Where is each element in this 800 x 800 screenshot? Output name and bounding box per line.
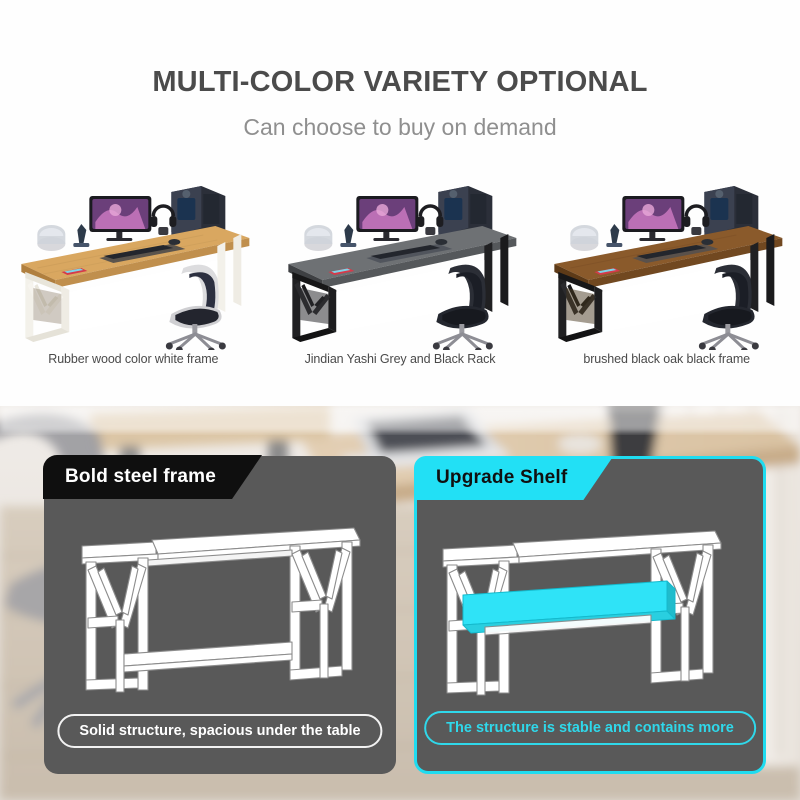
variety-section: MULTI-COLOR VARIETY OPTIONAL Can choose …: [0, 0, 800, 406]
feature-badge-upgrade-shelf: Upgrade Shelf: [414, 456, 613, 500]
page-title: MULTI-COLOR VARIETY OPTIONAL: [0, 66, 800, 99]
feature-badge-label: Upgrade Shelf: [436, 467, 567, 489]
feature-panel-bold-steel-frame: Bold steel frame: [44, 456, 396, 774]
feature-caption-pill-left: Solid structure, spacious under the tabl…: [57, 714, 382, 748]
variant-item[interactable]: Jindian Yashi Grey and Black Rack: [267, 172, 534, 392]
variant-photo-black-oak-black: [533, 172, 800, 350]
feature-badge-label: Bold steel frame: [65, 466, 216, 488]
feature-caption-label: The structure is stable and contains mor…: [446, 720, 734, 736]
variant-caption: Rubber wood color white frame: [0, 352, 267, 366]
frame-diagram-with-shelf: [423, 511, 759, 711]
variant-item[interactable]: brushed black oak black frame: [533, 172, 800, 392]
feature-panel-upgrade-shelf: Upgrade Shelf: [414, 456, 766, 774]
features-section: Bold steel frame: [0, 406, 800, 800]
variant-photo-rubber-wood-white: [0, 172, 267, 350]
frame-diagram-no-shelf: [52, 512, 388, 712]
feature-caption-label: Solid structure, spacious under the tabl…: [79, 723, 360, 739]
variant-caption: brushed black oak black frame: [533, 352, 800, 366]
page-subtitle: Can choose to buy on demand: [0, 114, 800, 141]
feature-caption-pill-right: The structure is stable and contains mor…: [424, 711, 756, 745]
variant-list: Rubber wood color white frame: [0, 172, 800, 392]
feature-badge-bold-steel-frame: Bold steel frame: [43, 455, 262, 499]
variant-item[interactable]: Rubber wood color white frame: [0, 172, 267, 392]
variant-caption: Jindian Yashi Grey and Black Rack: [267, 352, 534, 366]
variant-photo-grey-black: [267, 172, 534, 350]
